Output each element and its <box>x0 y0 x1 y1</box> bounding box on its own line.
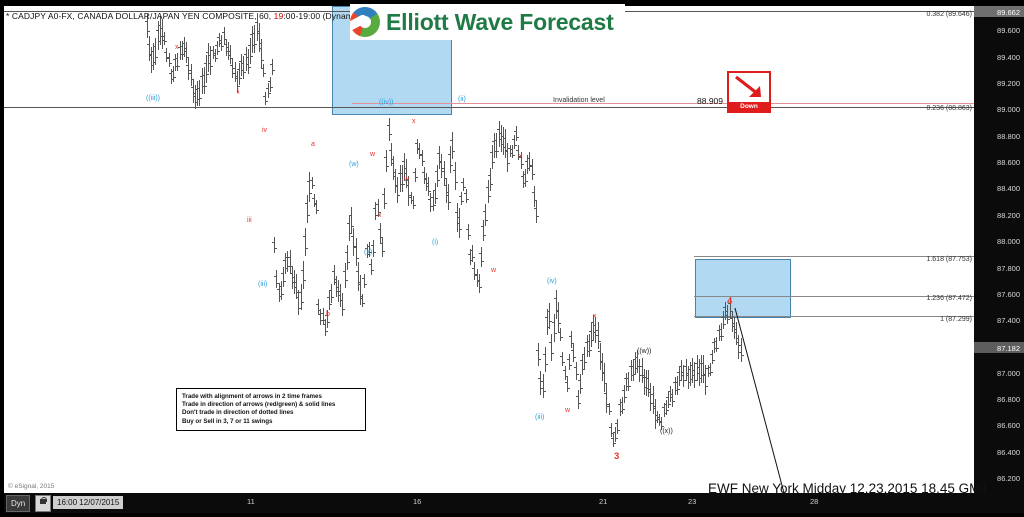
lock-icon[interactable] <box>35 495 51 512</box>
price-axis-top-value: 89.662 <box>997 8 1020 17</box>
wave-label-0: x <box>175 44 179 51</box>
wave-label-4: a <box>311 141 315 148</box>
time-tick-2: 21 <box>599 497 607 506</box>
time-tick-1: 16 <box>413 497 421 506</box>
down-signal-badge[interactable]: Down <box>727 71 771 113</box>
wave-label-23: ((w)) <box>637 348 651 355</box>
legend-line-2: Trade in direction of arrows (red/green)… <box>182 401 360 409</box>
symbol-header: * CADJPY A0-FX, CANADA DOLLAR/JAPAN YEN … <box>6 11 362 21</box>
price-tick-5: 88.600 <box>997 158 1020 167</box>
down-badge-label: Down <box>729 102 769 111</box>
wave-label-25: 3 <box>614 451 619 462</box>
wave-label-5: iii <box>247 217 252 224</box>
fib-label-top-1: 0.236 (88.863) <box>0 105 972 112</box>
wave-label-14: w <box>404 176 409 183</box>
ewf-logo-text: Elliott Wave Forecast <box>386 9 614 36</box>
legend-line-3: Don't trade in direction of dotted lines <box>182 409 360 417</box>
legend-line-1: Trade with alignment of arrows in 2 time… <box>182 393 360 401</box>
legend-line-4: Buy or Sell in 3, 7 or 11 swings <box>182 418 360 426</box>
symbol-prefix: * CADJPY A0-FX, CANADA DOLLAR/JAPAN YEN … <box>6 11 274 21</box>
price-tick-7: 88.200 <box>997 211 1020 220</box>
wave-label-13: x <box>412 118 416 125</box>
wave-label-16: (i) <box>432 239 438 246</box>
wave-label-10: x <box>378 212 382 219</box>
ewf-swirl-icon <box>350 7 380 37</box>
price-tick-12: 87.000 <box>997 369 1020 378</box>
time-axis[interactable]: Dyn 16:00 12/07/2015 1116212328 <box>4 493 1020 513</box>
price-tick-16: 86.200 <box>997 474 1020 483</box>
wave-label-6: (iii) <box>258 281 267 288</box>
fib-label-bottom-2: 1 (87.299) <box>0 316 972 323</box>
legend-box: Trade with alignment of arrows in 2 time… <box>176 388 366 431</box>
price-tick-6: 88.400 <box>997 184 1020 193</box>
wave-label-15: (ii) <box>458 96 466 103</box>
axis-corner <box>974 493 1024 513</box>
time-tick-0: 11 <box>247 497 255 506</box>
frame-bottom-border <box>0 513 1024 517</box>
wave-label-18: w <box>491 267 496 274</box>
wave-label-9: w <box>370 151 375 158</box>
wave-label-24: ((x)) <box>660 428 673 435</box>
price-axis-mid-highlight: 87.182 <box>974 342 1024 353</box>
wave-label-2: i <box>238 89 240 96</box>
wave-label-21: w <box>565 407 570 414</box>
price-tick-3: 89.000 <box>997 105 1020 114</box>
invalidation-label: Invalidation level <box>553 97 605 104</box>
price-tick-11: 87.400 <box>997 316 1020 325</box>
symbol-highlight: 19 <box>274 11 284 21</box>
copyright-text: © eSignal, 2015 <box>8 483 54 490</box>
chart-caption: EWF New York Midday 12.23.2015 18.45 GMT <box>708 481 989 496</box>
price-tick-13: 86.800 <box>997 395 1020 404</box>
price-tick-9: 87.800 <box>997 264 1020 273</box>
time-tick-4: 28 <box>810 497 818 506</box>
price-tick-2: 89.200 <box>997 79 1020 88</box>
wave-label-1: ((iii)) <box>146 95 160 102</box>
price-tick-4: 88.800 <box>997 132 1020 141</box>
arrow-down-right-icon <box>733 75 763 99</box>
wave-projection-line <box>4 6 974 493</box>
price-tick-0: 89.600 <box>997 26 1020 35</box>
price-axis-top-highlight: 89.662 <box>974 6 1024 17</box>
price-tick-1: 89.400 <box>997 53 1020 62</box>
wave-label-20: (iii) <box>535 414 544 421</box>
dyn-button[interactable]: Dyn <box>6 495 30 512</box>
ewf-logo: Elliott Wave Forecast <box>350 4 625 40</box>
time-tick-3: 23 <box>688 497 696 506</box>
price-tick-15: 86.400 <box>997 448 1020 457</box>
price-axis[interactable]: 89.662 87.182 89.60089.40089.20089.00088… <box>974 6 1024 493</box>
wave-label-17: x <box>519 153 523 160</box>
price-tick-8: 88.000 <box>997 237 1020 246</box>
wave-label-12: (x) <box>364 249 372 256</box>
price-axis-mid-value: 87.182 <box>997 344 1020 353</box>
plot-area[interactable]: x((iii))iivaiii(iii)b(w)wx((iv))(x)xw(ii… <box>4 6 974 493</box>
price-tick-10: 87.600 <box>997 290 1020 299</box>
chart-screenshot: x((iii))iivaiii(iii)b(w)wx((iv))(x)xw(ii… <box>0 0 1024 517</box>
fib-label-bottom-0: 1.618 (87.753) <box>0 256 972 263</box>
price-tick-14: 86.600 <box>997 421 1020 430</box>
fib-label-bottom-1: 1.236 (87.472) <box>0 295 972 302</box>
wave-label-19: (iv) <box>547 278 557 285</box>
time-axis-current-value: 16:00 12/07/2015 <box>53 496 123 509</box>
wave-label-3: iv <box>262 127 267 134</box>
wave-label-8: (w) <box>349 161 359 168</box>
